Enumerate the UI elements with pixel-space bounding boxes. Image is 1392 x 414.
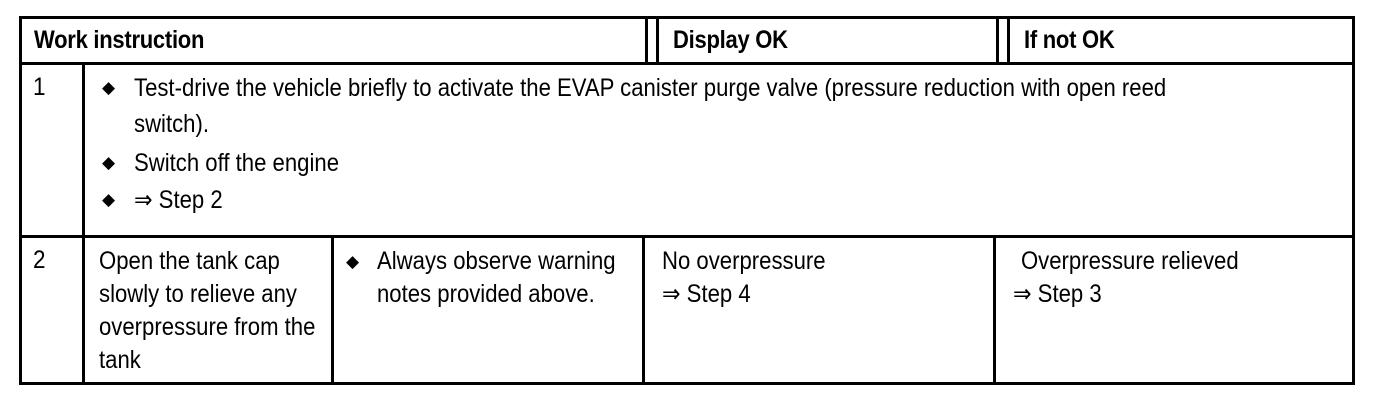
- list-item-text: Test-drive the vehicle briefly to activa…: [134, 70, 1376, 142]
- if-not-ok-text: Overpressure relieved ⇒ Step 3: [1013, 245, 1369, 311]
- header-column-divider-1: [645, 19, 648, 65]
- list-item: ◆ ⇒ Step 2: [102, 182, 1344, 218]
- table-row: 1 ◆ Test-drive the vehicle briefly to ac…: [22, 65, 1352, 238]
- list-item: ◆ Always observe warning notes provided …: [346, 245, 636, 311]
- column-header-work-instruction-label: Work instruction: [34, 26, 204, 55]
- if-not-ok-line2: ⇒ Step 3: [1013, 280, 1102, 308]
- column-header-display-ok-label: Display OK: [673, 26, 788, 55]
- display-ok-text: No overpressure ⇒ Step 4: [662, 245, 1010, 311]
- diamond-bullet-icon: ◆: [346, 245, 359, 278]
- column-header-if-not-ok-label: If not OK: [1024, 26, 1115, 55]
- list-item-text-line1: Test-drive the vehicle briefly to activa…: [134, 74, 1166, 102]
- work-instruction-cell: ◆ Test-drive the vehicle briefly to acti…: [88, 65, 1352, 235]
- document-page: Work instruction Display OK If not OK 1 …: [0, 0, 1392, 414]
- list-item-text: Switch off the engine: [134, 145, 1376, 181]
- step-number-cell: 1: [22, 65, 85, 235]
- table-header-row: Work instruction Display OK If not OK: [22, 19, 1352, 65]
- diamond-bullet-icon: ◆: [102, 70, 115, 106]
- list-item-text: Always observe warning notes provided ab…: [377, 245, 654, 311]
- list-item-text: ⇒ Step 2: [134, 182, 1376, 218]
- step-number: 2: [33, 246, 46, 275]
- if-not-ok-cell: Overpressure relieved ⇒ Step 3: [996, 238, 1352, 382]
- diamond-bullet-icon: ◆: [102, 182, 115, 218]
- display-ok-line2: ⇒ Step 4: [662, 280, 751, 308]
- display-ok-line1: No overpressure: [662, 247, 826, 275]
- table-row: 2 Open the tank cap slowly to relieve an…: [22, 238, 1352, 382]
- step-number: 1: [33, 73, 46, 102]
- work-instruction-cell-note: ◆ Always observe warning notes provided …: [334, 238, 645, 382]
- step-number-cell: 2: [22, 238, 85, 382]
- list-item: ◆ Switch off the engine: [102, 145, 1344, 181]
- work-instruction-text: Open the tank cap slowly to relieve any …: [99, 245, 334, 377]
- list-item: ◆ Test-drive the vehicle briefly to acti…: [102, 70, 1344, 142]
- work-instruction-cell-primary: Open the tank cap slowly to relieve any …: [85, 238, 334, 382]
- column-header-work-instruction: Work instruction: [34, 19, 597, 62]
- column-header-display-ok: Display OK: [656, 19, 1016, 62]
- if-not-ok-line1: Overpressure relieved: [1013, 245, 1369, 278]
- list-item-text-line1: ⇒ Step 2: [134, 186, 223, 214]
- column-header-if-not-ok: If not OK: [1007, 19, 1352, 62]
- list-item-text-line2: switch).: [134, 106, 1376, 142]
- work-instruction-table: Work instruction Display OK If not OK 1 …: [19, 16, 1355, 385]
- diamond-bullet-icon: ◆: [102, 145, 115, 181]
- list-item-text-line1: Switch off the engine: [134, 149, 339, 177]
- display-ok-cell: No overpressure ⇒ Step 4: [645, 238, 996, 382]
